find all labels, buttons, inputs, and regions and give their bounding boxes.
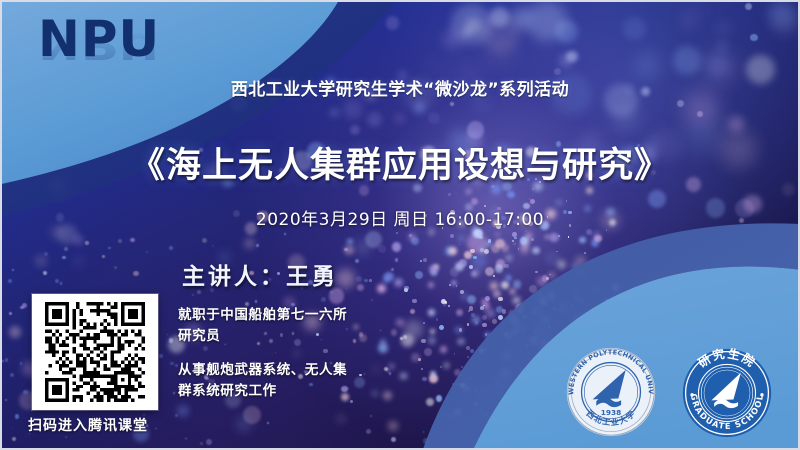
speaker-name: 主讲人：王勇 [182,257,338,291]
event-datetime: 2020年3月29日 周日 16:00-17:00 [2,205,798,230]
speaker-affiliation-line-2: 研究员 [178,326,347,347]
qr-code[interactable] [32,294,158,410]
speaker-research-line-1: 从事舰炮武器系统、无人集 [178,360,347,381]
qr-code-caption: 扫码进入腾讯课堂 [28,415,148,435]
presentation-slide: NPU NPU 西北工业大学研究生学术“微沙龙”系列活动 《海上无人集群应用设想… [0,0,800,450]
graduate-school-seal-icon: 研究生院 GRADUATE SCHOOL [681,347,773,439]
qr-code-image [41,302,149,402]
speaker-affiliation: 就职于中国船舶第七一六所 研究员 [178,305,347,347]
speaker-research-line-2: 群系统研究工作 [178,381,347,402]
speaker-affiliation-line-1: 就职于中国船舶第七一六所 [178,305,347,326]
nwpu-university-seal-icon: NORTHWESTERN POLYTECHNICAL UNIVERSITY 西北… [565,346,657,438]
speaker-research-area: 从事舰炮武器系统、无人集 群系统研究工作 [178,360,347,402]
page-title: 《海上无人集群应用设想与研究》 [2,137,798,188]
event-series-subtitle: 西北工业大学研究生学术“微沙龙”系列活动 [2,75,798,100]
nwpu-seal-year: 1938 [601,408,621,417]
npu-logo: NPU [38,14,160,64]
